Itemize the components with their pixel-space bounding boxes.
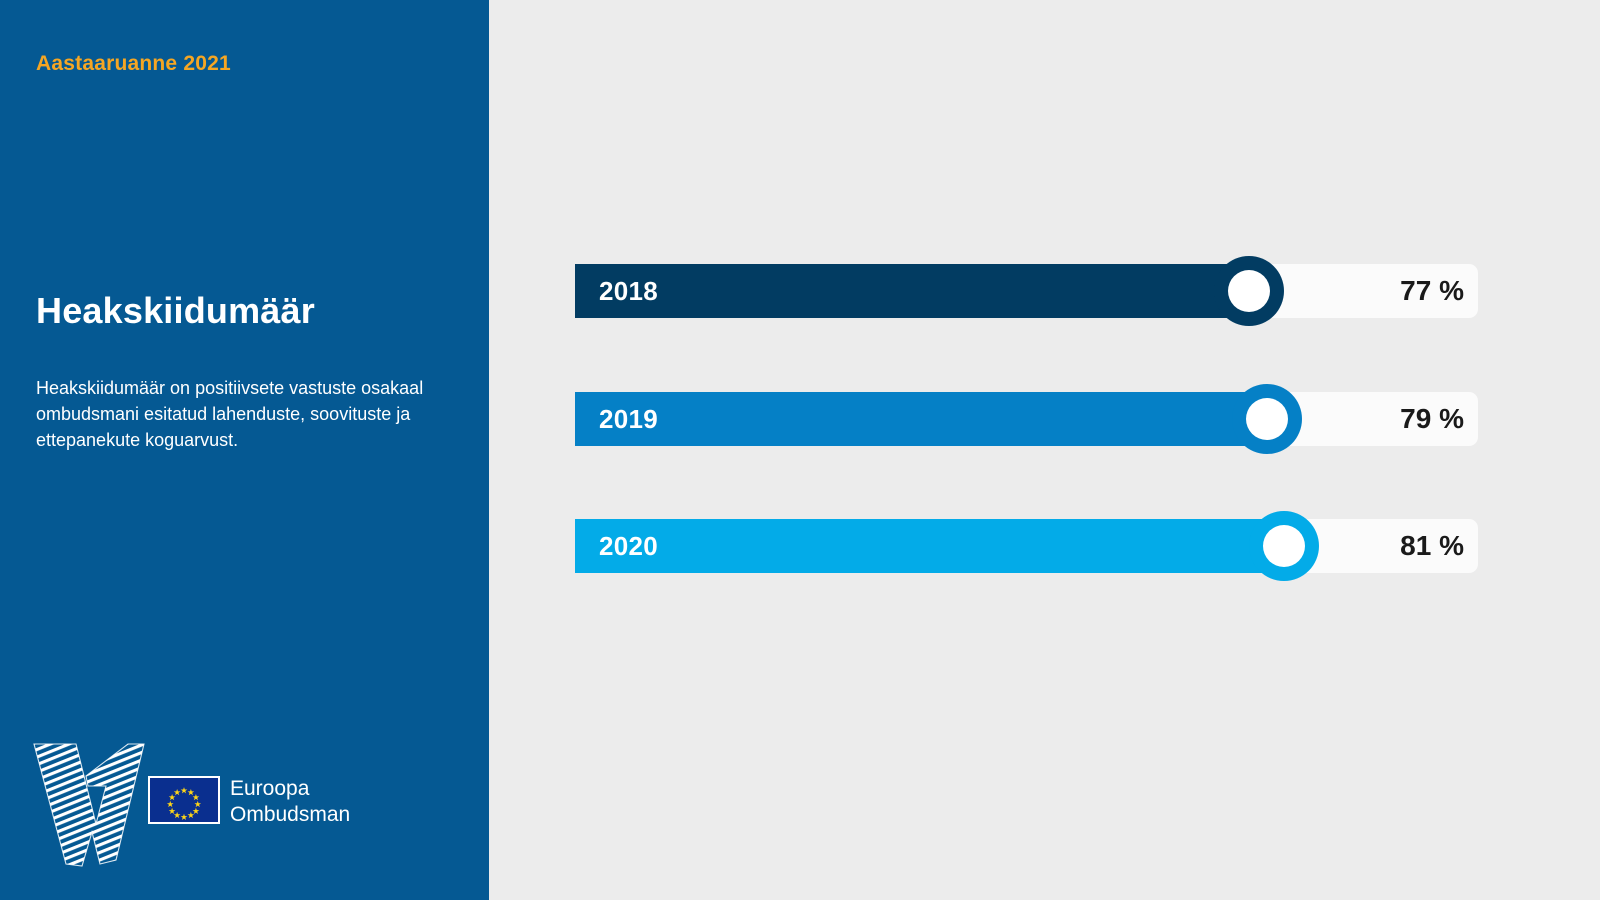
- bar-year-label: 2020: [599, 519, 658, 573]
- bar-value-label: 81 %: [1400, 519, 1464, 573]
- bar-row: 2020 81 %: [575, 519, 1478, 573]
- bar-knob-icon: [1232, 384, 1302, 454]
- approval-rate-bar-chart: 2018 77 % 2019 79 % 2020 81 %: [0, 0, 1600, 900]
- bar-fill: [575, 264, 1249, 318]
- bar-knob-center: [1228, 270, 1270, 312]
- bar-knob-center: [1246, 398, 1288, 440]
- bar-value-label: 79 %: [1400, 392, 1464, 446]
- bar-row: 2019 79 %: [575, 392, 1478, 446]
- bar-fill: [575, 519, 1284, 573]
- bar-value-label: 77 %: [1400, 264, 1464, 318]
- bar-year-label: 2019: [599, 392, 658, 446]
- bar-knob-icon: [1214, 256, 1284, 326]
- bar-knob-icon: [1249, 511, 1319, 581]
- bar-row: 2018 77 %: [575, 264, 1478, 318]
- bar-year-label: 2018: [599, 264, 658, 318]
- bar-fill: [575, 392, 1267, 446]
- bar-knob-center: [1263, 525, 1305, 567]
- infographic-page: Aastaaruanne 2021 Heakskiidumäär Heakski…: [0, 0, 1600, 900]
